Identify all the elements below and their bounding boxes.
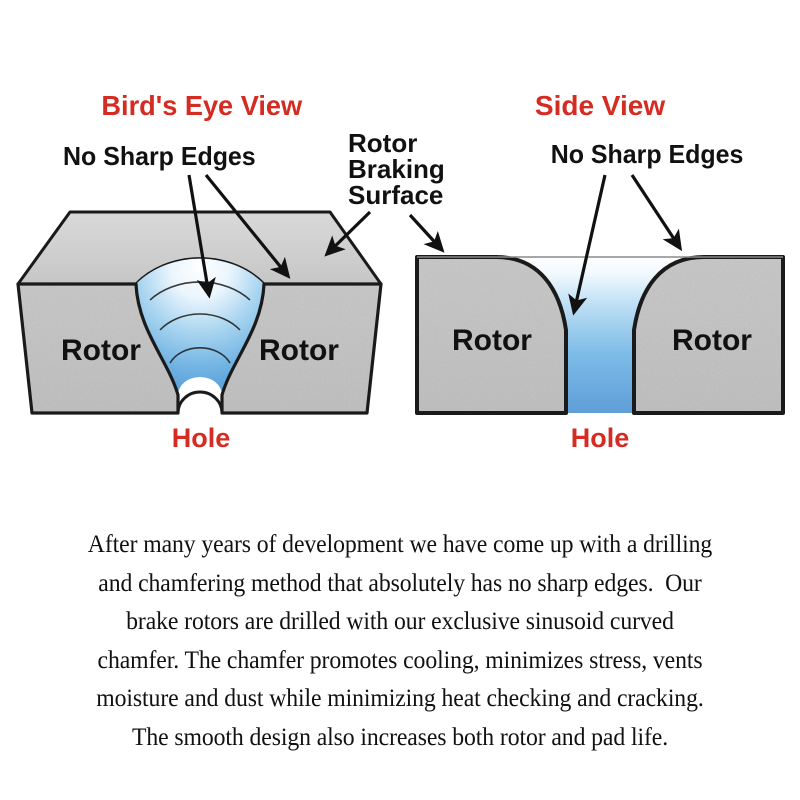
no-sharp-edges-label-left: No Sharp Edges [63, 143, 256, 172]
paragraph-line: The smooth design also increases both ro… [28, 718, 772, 757]
hole-exit-notch [178, 392, 222, 413]
hole-label-right: Hole [571, 423, 630, 453]
figure-root: Bird's Eye View No Sharp Edges Rotor Bra… [0, 0, 800, 800]
rotor-label-left: Rotor [61, 334, 141, 367]
paragraph-line: brake rotors are drilled with our exclus… [28, 602, 772, 641]
description-paragraph: After many years of development we have … [28, 525, 772, 756]
arrow-rotor-braking-surface-right [410, 215, 442, 250]
paragraph-line: chamfer. The chamfer promotes cooling, m… [28, 641, 772, 680]
paragraph-line: and chamfering method that absolutely ha… [28, 564, 772, 603]
birds-eye-view-figure: Bird's Eye View No Sharp Edges Rotor Bra… [18, 90, 445, 453]
hole-label-left: Hole [172, 423, 231, 453]
diagram-canvas: Bird's Eye View No Sharp Edges Rotor Bra… [0, 0, 800, 470]
side-view-rotor-label-left: Rotor [452, 324, 532, 357]
side-view-figure: Side View No Sharp Edges Rotor Rotor Hol… [410, 90, 783, 453]
side-view-rotor-label-right: Rotor [672, 324, 752, 357]
paragraph-line: After many years of development we have … [28, 525, 772, 564]
arrow-no-sharp-edges-right-b [632, 175, 680, 248]
rotor-label-right: Rotor [259, 334, 339, 367]
side-view-heading: Side View [535, 90, 665, 121]
rotor-braking-surface-label: Rotor Braking Surface [348, 128, 445, 210]
rotor-braking-surface-line-3: Surface [348, 180, 443, 210]
birds-eye-view-heading: Bird's Eye View [101, 90, 302, 121]
no-sharp-edges-label-right: No Sharp Edges [551, 141, 744, 170]
paragraph-line: moisture and dust while minimizing heat … [28, 679, 772, 718]
